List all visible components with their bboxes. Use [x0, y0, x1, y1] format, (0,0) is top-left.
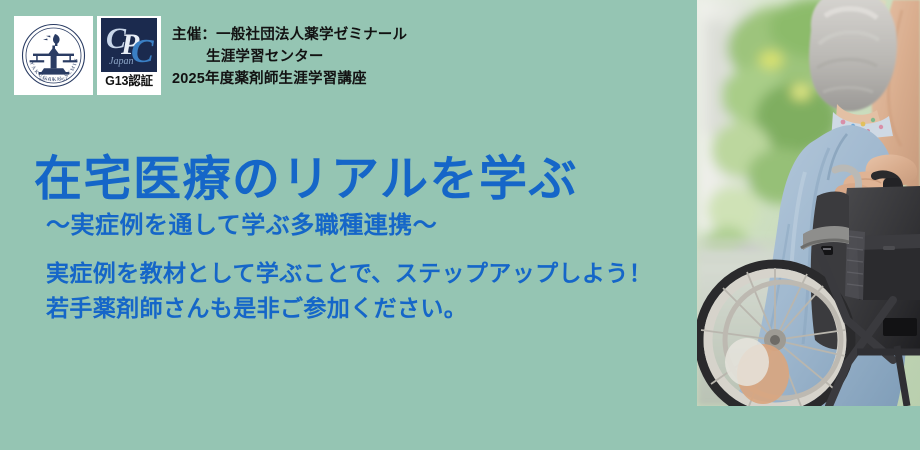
yakugaku-seminar-seal-icon: SINCE 1961 YAKUGAKU SEMINAR [14, 16, 93, 95]
header-organizer-text: 主催：一般社団法人薬学ゼミナール 生涯学習センター 2025年度薬剤師生涯学習講… [172, 16, 407, 90]
cpc-logo-mark: C P C Japan [101, 18, 157, 72]
header-line-2: 生涯学習センター [172, 46, 407, 68]
cpc-japan-logo-icon: C P C Japan G13認証 [97, 16, 161, 95]
page-subtitle: 〜実症例を通して学ぶ多職種連携〜 [34, 210, 674, 242]
svg-text:C: C [131, 33, 154, 70]
body-line-2: 若手薬剤師さんも是非ご参加ください。 [46, 291, 674, 326]
elderly-person-in-wheelchair-photo [697, 0, 920, 406]
svg-text:Japan: Japan [109, 56, 133, 67]
header-line-1: 主催：一般社団法人薬学ゼミナール [172, 24, 407, 46]
seminar-banner: SINCE 1961 YAKUGAKU SEMINAR C P C Japan [0, 0, 920, 450]
body-text: 実症例を教材として学ぶことで、ステップアップしよう！ 若手薬剤師さんも是非ご参加… [34, 256, 674, 326]
page-title: 在宅医療のリアルを学ぶ [34, 152, 674, 208]
cpc-certification-label: G13認証 [105, 72, 153, 90]
main-copy: 在宅医療のリアルを学ぶ 〜実症例を通して学ぶ多職種連携〜 実症例を教材として学ぶ… [34, 152, 674, 326]
header-line-3: 2025年度薬剤師生涯学習講座 [172, 68, 407, 90]
header: SINCE 1961 YAKUGAKU SEMINAR C P C Japan [14, 16, 407, 95]
body-line-1: 実症例を教材として学ぶことで、ステップアップしよう！ [46, 256, 674, 291]
